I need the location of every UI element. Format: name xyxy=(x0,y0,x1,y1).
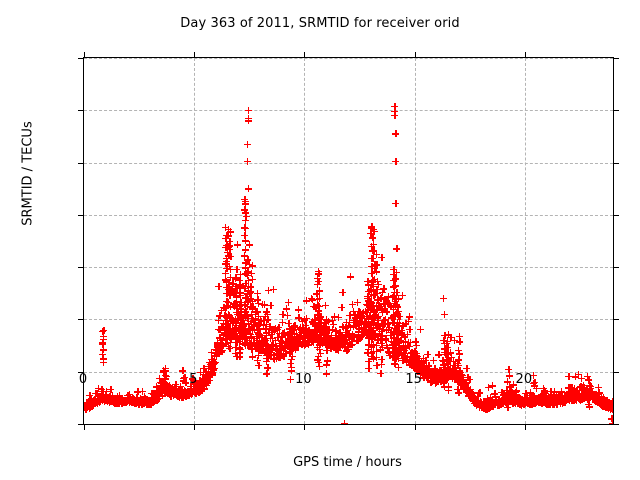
scatter-point xyxy=(361,327,368,334)
scatter-point xyxy=(593,398,600,405)
scatter-point xyxy=(148,390,155,397)
scatter-point xyxy=(596,400,603,407)
scatter-point xyxy=(242,294,249,301)
scatter-point xyxy=(443,367,450,374)
scatter-point xyxy=(241,301,248,308)
scatter-point xyxy=(495,397,502,404)
scatter-point xyxy=(242,246,249,253)
scatter-point xyxy=(597,401,604,408)
scatter-point xyxy=(218,337,225,344)
scatter-point xyxy=(249,303,256,310)
scatter-point xyxy=(138,397,145,404)
scatter-point xyxy=(552,398,559,405)
scatter-point xyxy=(84,404,88,411)
scatter-point xyxy=(99,328,106,335)
scatter-point xyxy=(515,398,522,405)
scatter-point xyxy=(271,328,278,335)
scatter-point xyxy=(233,322,240,329)
scatter-point xyxy=(265,329,272,336)
scatter-point xyxy=(444,376,451,383)
scatter-point xyxy=(578,395,585,402)
scatter-point xyxy=(260,338,267,345)
plot-area xyxy=(83,57,614,425)
scatter-point xyxy=(586,403,593,410)
scatter-point xyxy=(365,297,372,304)
scatter-point xyxy=(177,390,184,397)
scatter-point xyxy=(319,325,326,332)
scatter-point xyxy=(541,399,548,406)
scatter-point xyxy=(399,331,406,338)
scatter-point xyxy=(91,399,98,406)
scatter-point xyxy=(543,396,550,403)
scatter-point xyxy=(506,392,513,399)
scatter-point xyxy=(496,396,503,403)
scatter-point xyxy=(247,343,254,350)
scatter-point xyxy=(250,339,257,346)
scatter-point xyxy=(452,374,459,381)
scatter-point xyxy=(124,394,131,401)
scatter-point xyxy=(97,394,104,401)
scatter-point xyxy=(561,393,568,400)
scatter-point xyxy=(318,337,325,344)
scatter-point xyxy=(113,397,120,404)
scatter-point xyxy=(122,398,129,405)
scatter-point xyxy=(609,403,613,410)
scatter-point xyxy=(176,390,183,397)
scatter-point xyxy=(481,405,488,412)
scatter-point xyxy=(222,325,229,332)
scatter-point xyxy=(571,393,578,400)
scatter-point xyxy=(248,270,255,277)
scatter-point xyxy=(305,335,312,342)
scatter-point xyxy=(233,285,240,292)
scatter-point xyxy=(108,397,115,404)
scatter-point xyxy=(541,388,548,395)
scatter-point xyxy=(223,290,230,297)
scatter-point xyxy=(276,342,283,349)
scatter-point xyxy=(489,403,496,410)
scatter-point xyxy=(244,256,251,263)
scatter-point xyxy=(494,400,501,407)
scatter-point xyxy=(395,308,402,315)
y-axis-tick-right xyxy=(613,372,619,373)
scatter-point xyxy=(310,329,317,336)
scatter-point xyxy=(242,342,249,349)
scatter-point xyxy=(482,405,489,412)
scatter-point xyxy=(512,391,519,398)
scatter-point xyxy=(371,330,378,337)
scatter-point xyxy=(151,397,158,404)
scatter-point xyxy=(377,346,384,353)
scatter-point xyxy=(266,351,273,358)
scatter-point xyxy=(557,398,564,405)
scatter-point xyxy=(111,400,118,407)
scatter-point xyxy=(245,117,252,124)
scatter-point xyxy=(364,293,371,300)
scatter-point xyxy=(466,391,473,398)
scatter-point xyxy=(335,334,342,341)
scatter-point xyxy=(401,352,408,359)
scatter-point xyxy=(572,396,579,403)
scatter-point xyxy=(292,339,299,346)
scatter-point xyxy=(102,396,109,403)
scatter-point xyxy=(554,398,561,405)
scatter-point xyxy=(251,342,258,349)
scatter-point xyxy=(219,323,226,330)
scatter-point xyxy=(156,375,163,382)
scatter-point xyxy=(330,337,337,344)
scatter-point xyxy=(171,390,178,397)
scatter-point xyxy=(291,335,298,342)
scatter-point xyxy=(327,337,334,344)
scatter-point xyxy=(314,326,321,333)
scatter-point xyxy=(606,404,613,411)
scatter-point xyxy=(526,401,533,408)
scatter-point xyxy=(540,390,547,397)
scatter-point xyxy=(455,347,462,354)
scatter-point xyxy=(106,398,113,405)
scatter-point xyxy=(243,333,250,340)
scatter-point xyxy=(378,340,385,347)
scatter-point xyxy=(133,400,140,407)
scatter-point xyxy=(173,391,180,398)
scatter-point xyxy=(111,399,118,406)
scatter-point xyxy=(242,330,249,337)
scatter-point xyxy=(219,341,226,348)
scatter-point xyxy=(116,399,123,406)
scatter-point xyxy=(573,387,580,394)
scatter-point xyxy=(483,406,490,413)
scatter-point xyxy=(567,392,574,399)
scatter-point xyxy=(474,401,481,408)
scatter-point xyxy=(475,390,482,397)
scatter-point xyxy=(572,373,579,380)
scatter-point xyxy=(584,373,591,380)
scatter-point xyxy=(214,341,221,348)
scatter-point xyxy=(125,397,132,404)
scatter-point xyxy=(107,398,114,405)
scatter-point xyxy=(369,234,376,241)
scatter-point xyxy=(89,403,96,410)
scatter-point xyxy=(391,112,398,119)
scatter-point xyxy=(154,396,161,403)
scatter-point xyxy=(370,247,377,254)
scatter-point xyxy=(228,287,235,294)
scatter-point xyxy=(153,397,160,404)
scatter-point xyxy=(217,341,224,348)
scatter-point xyxy=(472,400,479,407)
scatter-point xyxy=(488,400,495,407)
scatter-point xyxy=(504,392,511,399)
scatter-point xyxy=(561,397,568,404)
scatter-point xyxy=(370,348,377,355)
scatter-point xyxy=(156,389,163,396)
scatter-point xyxy=(237,319,244,326)
scatter-point xyxy=(357,334,364,341)
chart-container: Day 363 of 2011, SRMTID for receiver ori… xyxy=(0,0,640,480)
scatter-point xyxy=(401,347,408,354)
scatter-point xyxy=(441,340,448,347)
scatter-point xyxy=(404,353,411,360)
y-axis-label: SRMTID / TECUs xyxy=(21,64,36,284)
scatter-point xyxy=(232,274,239,281)
scatter-point xyxy=(395,364,402,371)
scatter-point xyxy=(93,398,100,405)
scatter-point xyxy=(226,331,233,338)
scatter-point xyxy=(178,394,185,401)
scatter-point xyxy=(527,399,534,406)
gridline-horizontal xyxy=(84,110,613,111)
scatter-point xyxy=(314,337,321,344)
scatter-point xyxy=(545,393,552,400)
scatter-point xyxy=(297,332,304,339)
scatter-point xyxy=(595,390,602,397)
scatter-point xyxy=(383,327,390,334)
scatter-point xyxy=(387,332,394,339)
scatter-point xyxy=(245,287,252,294)
scatter-point xyxy=(393,309,400,316)
scatter-point xyxy=(392,282,399,289)
scatter-point xyxy=(589,395,596,402)
scatter-point xyxy=(99,395,106,402)
scatter-point xyxy=(393,348,400,355)
scatter-point xyxy=(480,405,487,412)
scatter-point xyxy=(322,323,329,330)
scatter-point xyxy=(280,353,287,360)
scatter-point xyxy=(392,351,399,358)
scatter-point xyxy=(351,333,358,340)
scatter-point xyxy=(246,325,253,332)
scatter-point xyxy=(474,393,481,400)
x-axis-tick xyxy=(194,424,195,430)
scatter-point xyxy=(457,374,464,381)
scatter-point xyxy=(443,340,450,347)
scatter-point xyxy=(233,326,240,333)
scatter-point xyxy=(471,397,478,404)
scatter-point xyxy=(137,395,144,402)
scatter-point xyxy=(356,334,363,341)
scatter-point xyxy=(224,249,231,256)
scatter-point xyxy=(248,315,255,322)
scatter-point xyxy=(241,252,248,259)
scatter-point xyxy=(267,351,274,358)
scatter-point xyxy=(529,393,536,400)
scatter-point xyxy=(257,344,264,351)
scatter-point xyxy=(379,309,386,316)
scatter-point xyxy=(158,389,165,396)
scatter-point xyxy=(254,345,261,352)
scatter-point xyxy=(232,330,239,337)
scatter-point xyxy=(322,336,329,343)
scatter-point xyxy=(260,321,267,328)
scatter-point xyxy=(224,325,231,332)
scatter-point xyxy=(547,388,554,395)
scatter-point xyxy=(237,346,244,353)
scatter-point xyxy=(454,360,461,367)
scatter-point xyxy=(288,333,295,340)
scatter-point xyxy=(468,389,475,396)
scatter-point xyxy=(378,320,385,327)
scatter-point xyxy=(91,397,98,404)
scatter-point xyxy=(580,391,587,398)
scatter-point xyxy=(133,400,140,407)
scatter-point xyxy=(152,390,159,397)
scatter-point xyxy=(508,397,515,404)
scatter-point xyxy=(275,354,282,361)
scatter-point xyxy=(384,320,391,327)
scatter-point xyxy=(569,397,576,404)
scatter-point xyxy=(255,330,262,337)
scatter-point xyxy=(286,336,293,343)
scatter-point xyxy=(390,350,397,357)
scatter-point xyxy=(487,400,494,407)
scatter-point xyxy=(604,403,611,410)
scatter-point xyxy=(601,402,608,409)
scatter-point xyxy=(147,399,154,406)
scatter-point xyxy=(474,401,481,408)
scatter-point xyxy=(604,404,611,411)
scatter-point xyxy=(405,359,412,366)
scatter-point xyxy=(489,403,496,410)
scatter-point xyxy=(176,394,183,401)
scatter-point xyxy=(294,333,301,340)
scatter-point xyxy=(319,340,326,347)
scatter-point xyxy=(159,388,166,395)
scatter-point xyxy=(608,400,613,407)
scatter-point xyxy=(254,344,261,351)
scatter-point xyxy=(441,362,448,369)
scatter-point xyxy=(148,397,155,404)
scatter-point xyxy=(532,400,539,407)
scatter-point xyxy=(246,241,253,248)
scatter-point xyxy=(322,302,329,309)
scatter-point xyxy=(215,326,222,333)
scatter-point xyxy=(101,398,108,405)
scatter-point xyxy=(525,397,532,404)
scatter-point xyxy=(395,344,402,351)
gridline-horizontal xyxy=(84,58,613,59)
scatter-point xyxy=(325,327,332,334)
scatter-point xyxy=(187,390,194,397)
scatter-point xyxy=(174,393,181,400)
scatter-point xyxy=(469,393,476,400)
scatter-point xyxy=(576,395,583,402)
scatter-point xyxy=(316,346,323,353)
scatter-point xyxy=(325,340,332,347)
scatter-point xyxy=(544,396,551,403)
scatter-point xyxy=(279,344,286,351)
scatter-point xyxy=(362,321,369,328)
scatter-point xyxy=(267,345,274,352)
scatter-point xyxy=(370,355,377,362)
scatter-point xyxy=(577,395,584,402)
scatter-point xyxy=(150,390,157,397)
scatter-point xyxy=(89,402,96,409)
scatter-point xyxy=(365,306,372,313)
scatter-point xyxy=(367,298,374,305)
scatter-point xyxy=(587,390,594,397)
scatter-point xyxy=(233,309,240,316)
scatter-point xyxy=(256,331,263,338)
x-axis-tick-label: 20 xyxy=(494,372,554,387)
x-axis-tick-top xyxy=(194,52,195,58)
scatter-point xyxy=(540,397,547,404)
gridline-horizontal xyxy=(84,319,613,320)
scatter-point xyxy=(464,388,471,395)
scatter-point xyxy=(326,337,333,344)
scatter-point xyxy=(343,336,350,343)
scatter-point xyxy=(171,391,178,398)
scatter-point xyxy=(446,358,453,365)
scatter-point xyxy=(225,343,232,350)
scatter-point xyxy=(539,399,546,406)
scatter-point xyxy=(102,394,109,401)
scatter-point xyxy=(534,395,541,402)
scatter-point xyxy=(308,336,315,343)
scatter-point xyxy=(385,300,392,307)
scatter-point xyxy=(458,380,465,387)
scatter-point xyxy=(439,357,446,364)
scatter-point xyxy=(306,339,313,346)
scatter-point xyxy=(354,299,361,306)
scatter-point xyxy=(553,397,560,404)
scatter-point xyxy=(245,115,252,122)
scatter-point xyxy=(381,296,388,303)
scatter-point xyxy=(176,394,183,401)
scatter-point xyxy=(527,396,534,403)
scatter-point xyxy=(233,305,240,312)
scatter-point xyxy=(258,347,265,354)
scatter-point xyxy=(368,324,375,331)
scatter-point xyxy=(444,360,451,367)
scatter-point xyxy=(471,395,478,402)
scatter-point xyxy=(247,331,254,338)
scatter-point xyxy=(289,347,296,354)
scatter-point xyxy=(472,400,479,407)
scatter-point xyxy=(295,306,302,313)
scatter-point xyxy=(300,340,307,347)
scatter-point xyxy=(557,393,564,400)
scatter-point xyxy=(287,345,294,352)
scatter-point xyxy=(222,224,229,231)
scatter-point xyxy=(573,397,580,404)
scatter-point xyxy=(532,395,539,402)
scatter-point xyxy=(227,228,234,235)
scatter-point xyxy=(496,402,503,409)
scatter-point xyxy=(492,400,499,407)
scatter-point xyxy=(366,298,373,305)
scatter-point xyxy=(391,349,398,356)
scatter-point xyxy=(294,337,301,344)
scatter-point xyxy=(218,348,225,355)
scatter-point xyxy=(236,311,243,318)
scatter-point xyxy=(365,346,372,353)
scatter-point xyxy=(570,390,577,397)
scatter-point xyxy=(222,332,229,339)
scatter-point xyxy=(467,388,474,395)
scatter-point xyxy=(592,391,599,398)
scatter-point xyxy=(386,349,393,356)
scatter-point xyxy=(244,290,251,297)
scatter-point xyxy=(590,393,597,400)
scatter-point xyxy=(368,224,375,231)
scatter-point xyxy=(113,400,120,407)
scatter-point xyxy=(263,352,270,359)
scatter-point xyxy=(539,399,546,406)
scatter-point xyxy=(550,395,557,402)
scatter-point xyxy=(583,392,590,399)
scatter-point xyxy=(222,276,229,283)
